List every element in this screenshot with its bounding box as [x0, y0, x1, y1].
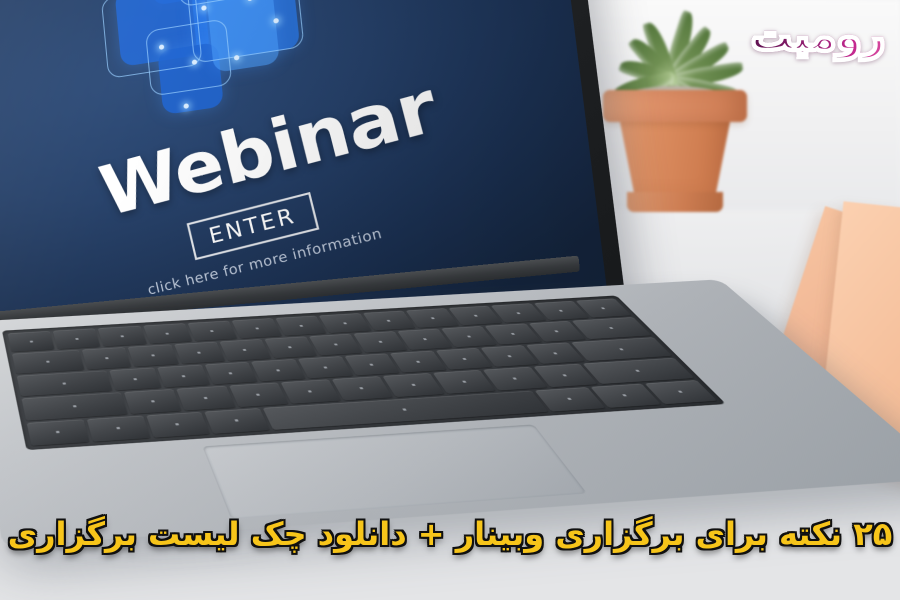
key	[219, 339, 271, 361]
key	[12, 350, 85, 374]
key	[229, 383, 288, 407]
key	[174, 342, 225, 364]
key	[86, 415, 150, 442]
key	[146, 412, 211, 438]
key	[53, 328, 101, 349]
key	[27, 419, 90, 446]
key	[187, 321, 237, 342]
key	[571, 337, 673, 361]
key	[232, 318, 283, 338]
key	[157, 365, 210, 388]
key	[128, 345, 178, 367]
key	[251, 359, 305, 382]
key	[17, 370, 113, 396]
key	[275, 316, 327, 336]
brand-logo-text: رومیت	[751, 16, 886, 57]
key	[319, 313, 371, 333]
key	[8, 331, 55, 352]
key	[204, 408, 270, 434]
key	[572, 317, 652, 339]
key	[582, 358, 694, 384]
key	[264, 337, 317, 358]
brand-logo[interactable]: رومیت	[748, 8, 888, 64]
key	[143, 323, 193, 344]
key	[124, 389, 182, 414]
key	[109, 367, 161, 390]
key	[298, 356, 353, 379]
laptop-keyboard[interactable]	[2, 295, 726, 450]
headline-title: ۲۵ نکته برای برگزاری وبینار + دانلود چک …	[8, 516, 893, 553]
key	[332, 376, 393, 400]
key	[82, 347, 132, 369]
headline-banner: ۲۵ نکته برای برگزاری وبینار + دانلود چک …	[0, 500, 900, 568]
webinar-cover-image: Webinar ENTER click here for more inform…	[0, 0, 900, 600]
key	[204, 362, 258, 385]
key	[280, 379, 340, 403]
key	[309, 334, 362, 355]
key	[177, 386, 235, 410]
key	[98, 326, 147, 347]
